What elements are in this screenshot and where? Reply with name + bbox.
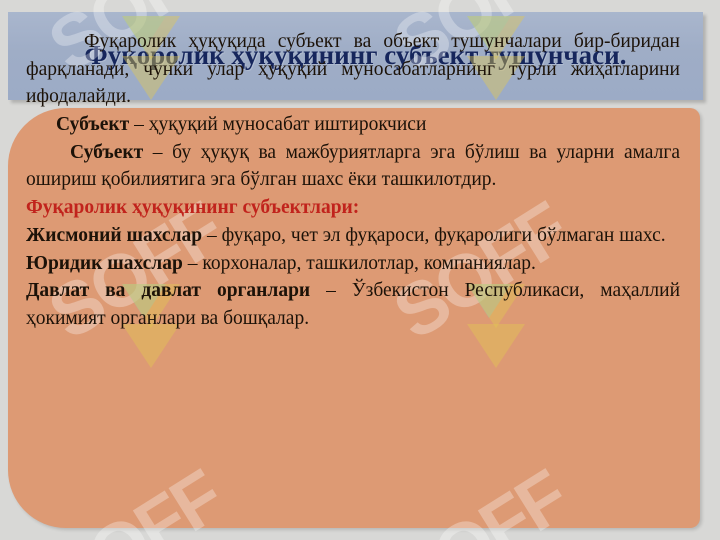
definition-2-term: Субъект xyxy=(70,142,143,163)
list-item-term: Жисмоний шахслар xyxy=(26,225,202,246)
definition-1-text: ҳуқуқий муносабат иштирокчиси xyxy=(149,114,427,135)
slide-canvas: Фуқоролик ҳуқуқининг субъект тушунчаси. … xyxy=(0,0,720,540)
definition-2-dash: – xyxy=(143,142,172,163)
list-heading-text: Фуқаролик ҳуқуқининг субъектлари: xyxy=(26,197,359,218)
list-item: Юридик шахслар – корхоналар, ташкилотлар… xyxy=(26,250,680,278)
list-item-dash: – xyxy=(310,280,352,301)
slide-body-content: Фуқаролик ҳуқуқида субъект ва объект туш… xyxy=(26,28,680,333)
watermark-tile: SOFF xyxy=(0,0,360,12)
body-paragraph-1: Фуқаролик ҳуқуқида субъект ва объект туш… xyxy=(26,28,680,111)
list-heading: Фуқаролик ҳуқуқининг субъектлари: xyxy=(26,194,680,222)
watermark-tile: SOFF xyxy=(345,0,705,12)
list-item-text: фуқаро, чет эл фуқароси, фуқаролиги бўлм… xyxy=(222,225,666,246)
list-item-text: корхоналар, ташкилотлар, компаниялар. xyxy=(202,253,536,274)
definition-1-dash: – xyxy=(129,114,149,135)
definition-line-1: Субъект – ҳуқуқий муносабат иштирокчиси xyxy=(26,111,680,139)
list-item-term: Юридик шахслар xyxy=(26,253,183,274)
list-item: Давлат ва давлат органлари – Ўзбекистон … xyxy=(26,277,680,332)
list-item-dash: – xyxy=(202,225,222,246)
watermark-tile: SOFF xyxy=(690,0,720,12)
list-item-dash: – xyxy=(183,253,203,274)
list-item-term: Давлат ва давлат органлари xyxy=(26,280,310,301)
definition-line-2: Субъект – бу ҳуқуқ ва мажбуриятларга эга… xyxy=(26,139,680,194)
list-item: Жисмоний шахслар – фуқаро, чет эл фуқаро… xyxy=(26,222,680,250)
definition-1-term: Субъект xyxy=(56,114,129,135)
